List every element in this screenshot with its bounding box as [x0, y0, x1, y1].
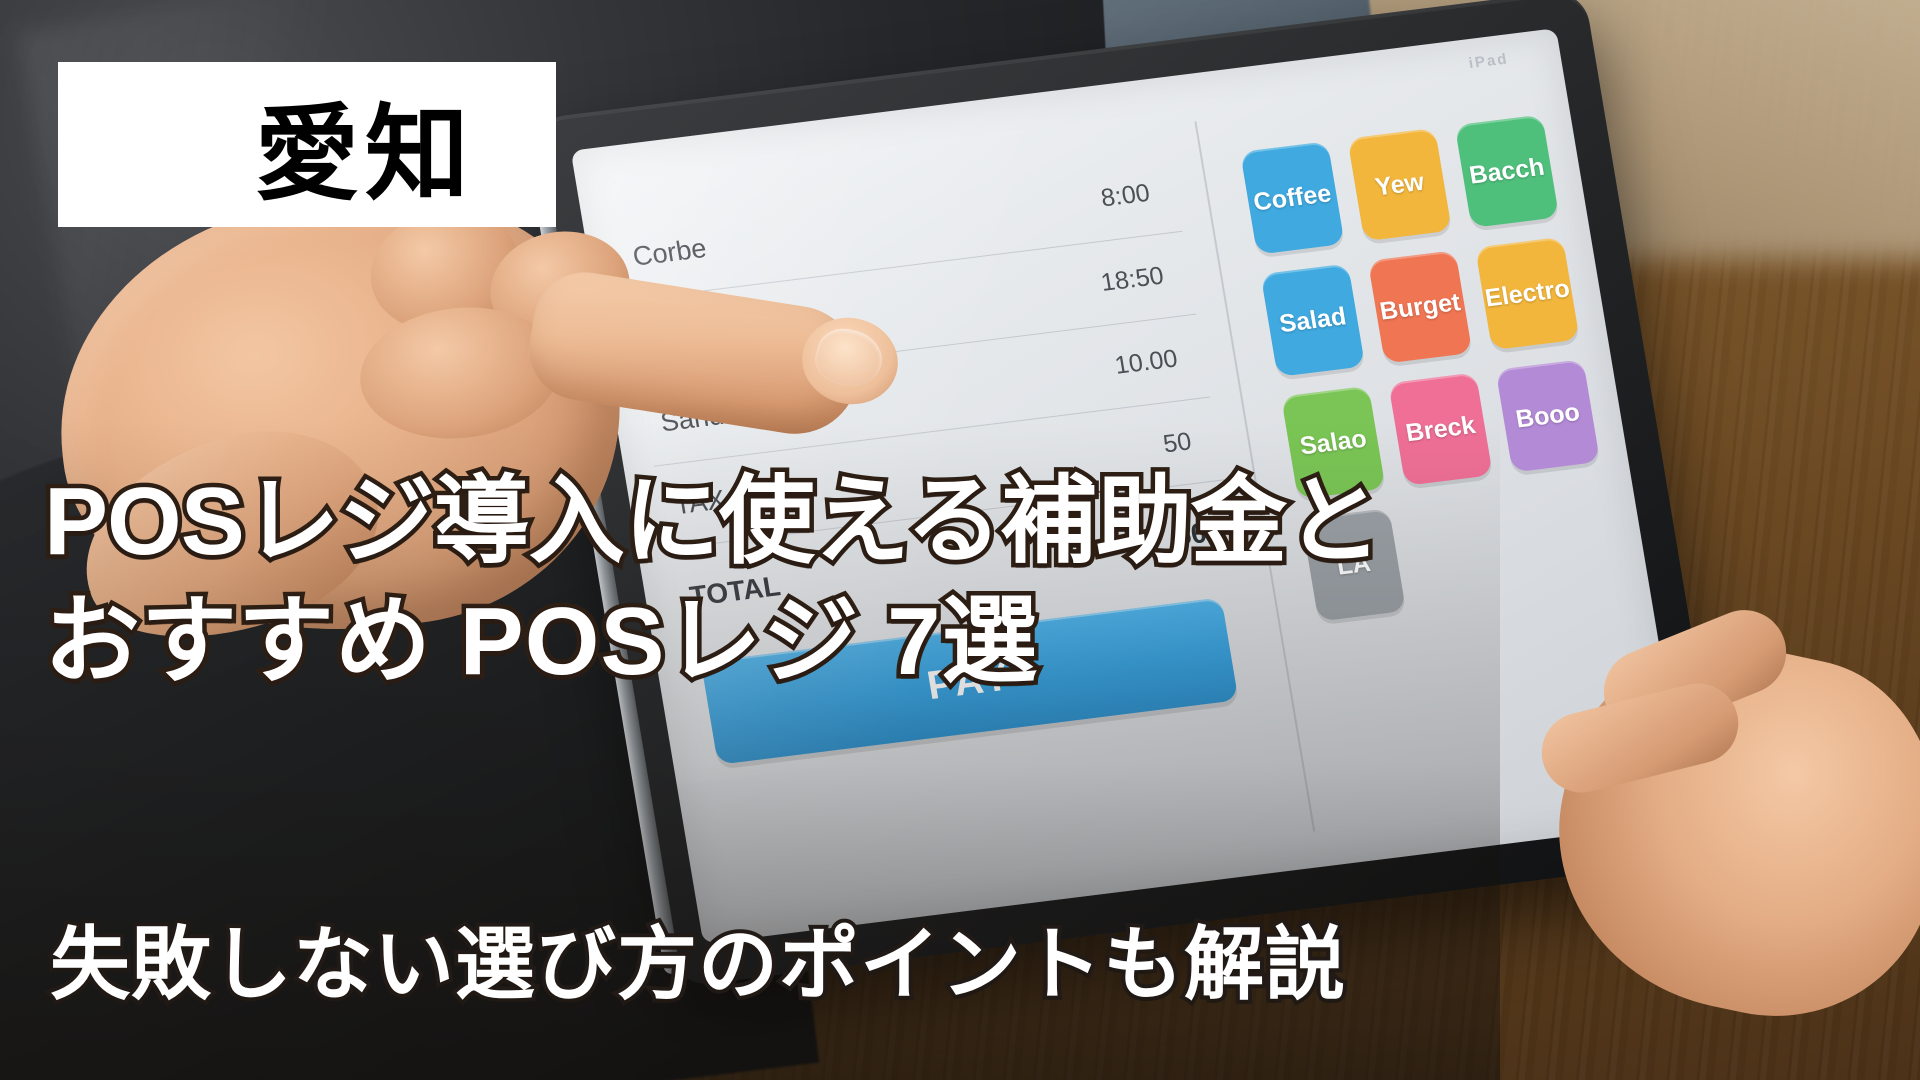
order-item-value: 50 [1161, 427, 1193, 459]
order-item-value: 10.00 [1113, 344, 1180, 380]
product-key-label: Yew [1373, 167, 1426, 202]
product-key-label: Coffee [1251, 179, 1333, 217]
product-key-label: Salad [1277, 302, 1348, 339]
order-item-value: 18:50 [1099, 262, 1166, 298]
product-key[interactable]: Booo [1496, 359, 1601, 472]
product-key[interactable]: Salad [1261, 264, 1366, 377]
subheadline: 失敗しない選び方のポイントも解説 [50, 900, 1346, 1016]
product-key[interactable]: Electro [1475, 237, 1580, 350]
tablet-brand-label: iPad [1468, 50, 1510, 72]
product-key-label: Electro [1483, 274, 1572, 313]
product-key-label: Salao [1298, 424, 1369, 461]
product-key[interactable]: Burget [1368, 250, 1473, 363]
product-key-label: Burget [1378, 288, 1463, 327]
product-key[interactable]: Breck [1388, 372, 1493, 485]
product-key[interactable]: Bacch [1455, 114, 1560, 227]
thumbnail-canvas: iPad Corbe 8:00 Saled 18:50 Sand 10.00 [0, 0, 1920, 1080]
region-badge: 愛知 [58, 62, 556, 227]
product-key[interactable]: Coffee [1240, 141, 1345, 254]
product-key-label: Bacch [1467, 152, 1546, 190]
product-key-label: Breck [1404, 411, 1478, 448]
order-item-value: 8:00 [1099, 179, 1152, 214]
region-badge-label: 愛知 [255, 69, 475, 220]
headline-block: POSレジ導入に使える補助金と おすすめ POSレジ 7選 [44, 470, 1904, 693]
headline-line-1: POSレジ導入に使える補助金と [44, 470, 1904, 574]
headline-line-2: おすすめ POSレジ 7選 [44, 590, 1904, 694]
product-key[interactable]: Yew [1347, 128, 1452, 241]
product-key-label: Booo [1514, 398, 1582, 435]
